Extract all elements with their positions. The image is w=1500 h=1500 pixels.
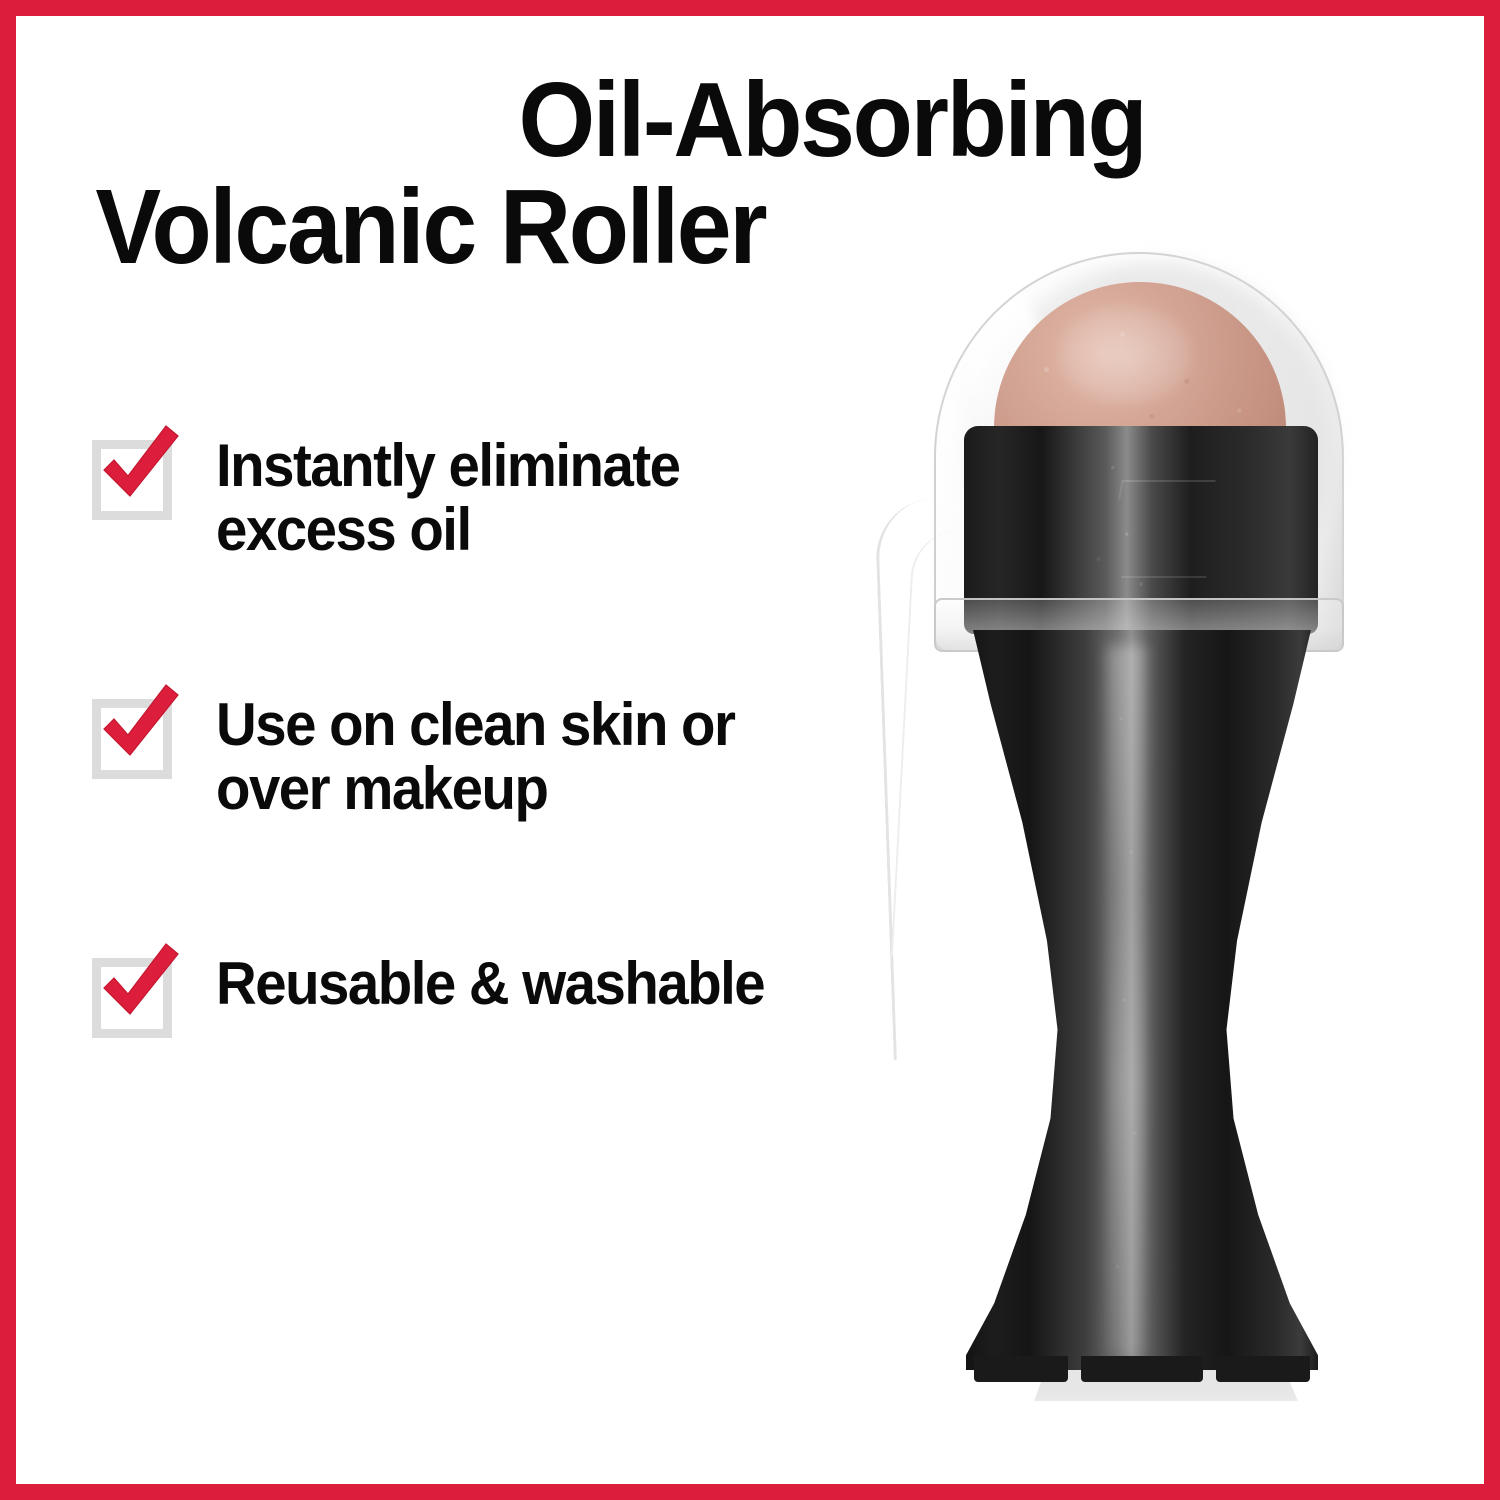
page-title: Oil-Absorbing Volcanic Roller <box>60 70 1190 277</box>
stone-highlight <box>1058 305 1192 404</box>
product-image <box>860 230 1420 1420</box>
feature-item: Reusable & washable <box>86 938 876 1042</box>
feature-label-line-1: Use on clean skin or <box>216 693 734 757</box>
feature-item: Use on clean skin or over makeup <box>86 679 876 820</box>
feature-list: Instantly eliminate excess oil Use on cl… <box>86 420 876 1042</box>
checkbox-checked-icon <box>86 942 186 1042</box>
collar-emboss-mark-top <box>1118 480 1215 499</box>
feature-label-line-1: Reusable & washable <box>216 952 764 1016</box>
check-mark-icon <box>94 424 186 516</box>
product-feature-banner: Oil-Absorbing Volcanic Roller Instantly … <box>0 0 1500 1500</box>
title-line-1: Oil-Absorbing <box>139 70 1190 171</box>
collar-emboss-mark-bottom <box>1118 576 1206 593</box>
base-feet <box>974 1356 1310 1382</box>
feature-label: Instantly eliminate excess oil <box>216 420 679 561</box>
feature-label: Use on clean skin or over makeup <box>216 679 734 820</box>
feature-label-line-2: excess oil <box>216 498 679 562</box>
base-foot <box>1216 1356 1310 1382</box>
handle-specular-highlight <box>1107 645 1146 1355</box>
roller-handle-body <box>966 630 1318 1370</box>
title-line-2: Volcanic Roller <box>60 177 1111 278</box>
check-mark-icon <box>94 942 186 1034</box>
feature-item: Instantly eliminate excess oil <box>86 420 876 561</box>
feature-label-line-2: over makeup <box>216 757 734 821</box>
feature-label-line-1: Instantly eliminate <box>216 434 679 498</box>
checkbox-checked-icon <box>86 424 186 524</box>
base-foot <box>1081 1356 1203 1382</box>
feature-label: Reusable & washable <box>216 938 764 1016</box>
check-mark-icon <box>94 683 186 775</box>
base-foot <box>974 1356 1068 1382</box>
checkbox-checked-icon <box>86 683 186 783</box>
